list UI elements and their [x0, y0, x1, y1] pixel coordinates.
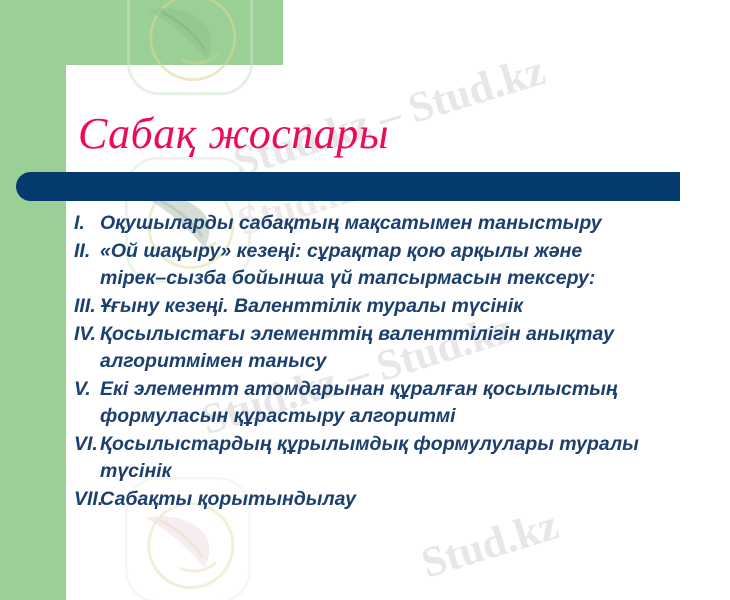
outline-item-numeral: V. [74, 376, 100, 403]
outline-item: IV.Қосылыстағы элементтің валенттілігін … [74, 321, 710, 375]
outline-item-line: Екі элементт атомдарынан құралған қосылы… [100, 378, 618, 400]
outline-item-numeral: IV. [74, 321, 100, 348]
slide-title: Сабақ жоспары [78, 108, 389, 159]
white-bottom-panel [66, 535, 730, 600]
outline-item-numeral: VII. [74, 486, 100, 513]
outline-item-line: тірек–сызба бойынша үй тапсырмасын тексе… [100, 267, 595, 289]
outline-item-line: Қосылыстағы элементтің валенттілігін аны… [100, 323, 614, 345]
outline-item: II.«Ой шақыру» кезеңі: сұрақтар қою арқы… [74, 238, 710, 292]
outline-item: VI.Қосылыстардың құрылымдық формулулары … [74, 431, 710, 485]
outline-list: I.Оқушыларды сабақтың мақсатымен танысты… [74, 210, 710, 514]
outline-item: V.Екі элементт атомдарынан құралған қосы… [74, 376, 710, 430]
outline-item-line: Қосылыстардың құрылымдық формулулары тур… [100, 433, 639, 455]
green-side-panel [0, 0, 66, 600]
outline-item: VII.Сабақты қорытындылау [74, 486, 710, 513]
outline-item-line: Сабақты қорытындылау [100, 488, 356, 510]
outline-item-line: «Ой шақыру» кезеңі: сұрақтар қою арқылы … [100, 240, 582, 262]
title-accent-bar [16, 172, 680, 201]
outline-item-numeral: III. [74, 293, 100, 320]
outline-item-line: формуласын құрастыру алгоритмі [100, 405, 456, 427]
outline-item: I.Оқушыларды сабақтың мақсатымен танысты… [74, 210, 710, 237]
outline-item-line: түсінік [100, 460, 172, 482]
outline-item-numeral: II. [74, 238, 100, 265]
outline-item-line: алгоритмімен танысу [100, 350, 326, 372]
outline-item: III.Ұғыну кезеңі. Валенттілік туралы түс… [74, 293, 710, 320]
outline-item-numeral: I. [74, 210, 100, 237]
presentation-slide: Stud.kz – Stud.kz Stud.kz Stud.kz – Stud… [0, 0, 730, 600]
outline-item-line: Ұғыну кезеңі. Валенттілік туралы түсінік [100, 295, 523, 317]
outline-item-line: Оқушыларды сабақтың мақсатымен таныстыру [100, 212, 602, 234]
outline-item-numeral: VI. [74, 431, 100, 458]
